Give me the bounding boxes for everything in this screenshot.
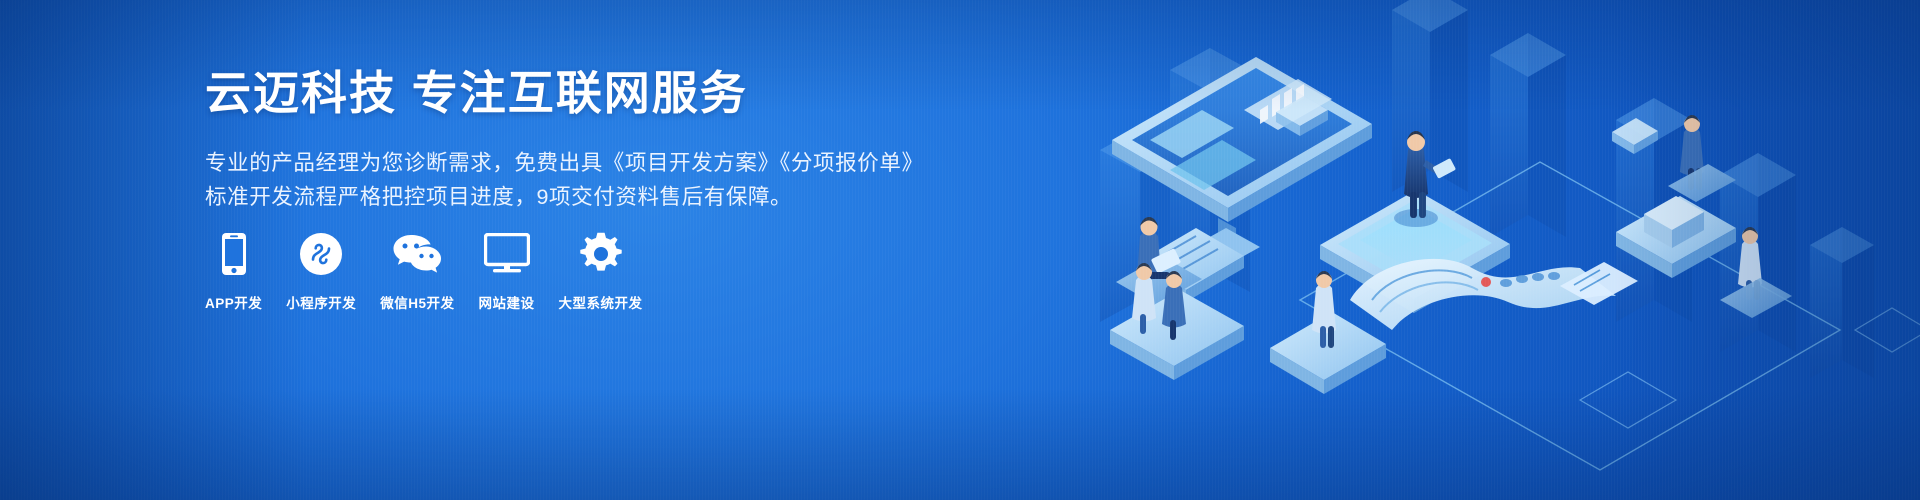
gear-icon [579,230,623,278]
service-label: 小程序开发 [286,292,356,312]
service-item-miniprogram[interactable]: 小程序开发 [286,230,356,312]
service-label: 大型系统开发 [559,292,643,312]
subtitle-line-2: 标准开发流程严格把控项目进度，9项交付资料售后有保障。 [205,180,965,214]
service-item-app[interactable]: APP开发 [205,230,262,312]
mobile-phone-icon [221,230,247,278]
mini-program-icon [299,230,343,278]
monitor-icon [484,230,530,278]
service-label: 微信H5开发 [380,292,454,312]
service-item-website[interactable]: 网站建设 [479,230,535,312]
hero-banner: 云迈科技 专注互联网服务 专业的产品经理为您诊断需求，免费出具《项目开发方案》《… [0,0,1920,500]
service-item-wechat[interactable]: 微信H5开发 [380,230,454,312]
banner-copy: 云迈科技 专注互联网服务 专业的产品经理为您诊断需求，免费出具《项目开发方案》《… [205,66,965,214]
isometric-illustration [1020,0,1920,500]
service-list: APP开发 小程序开发 [205,230,643,312]
service-label: APP开发 [205,292,262,312]
wechat-icon [392,230,442,278]
subtitle-line-1: 专业的产品经理为您诊断需求，免费出具《项目开发方案》《分项报价单》 [205,146,965,180]
banner-subtitle: 专业的产品经理为您诊断需求，免费出具《项目开发方案》《分项报价单》 标准开发流程… [205,146,965,214]
service-item-system[interactable]: 大型系统开发 [559,230,643,312]
page-title: 云迈科技 专注互联网服务 [205,66,965,120]
service-label: 网站建设 [479,292,535,312]
